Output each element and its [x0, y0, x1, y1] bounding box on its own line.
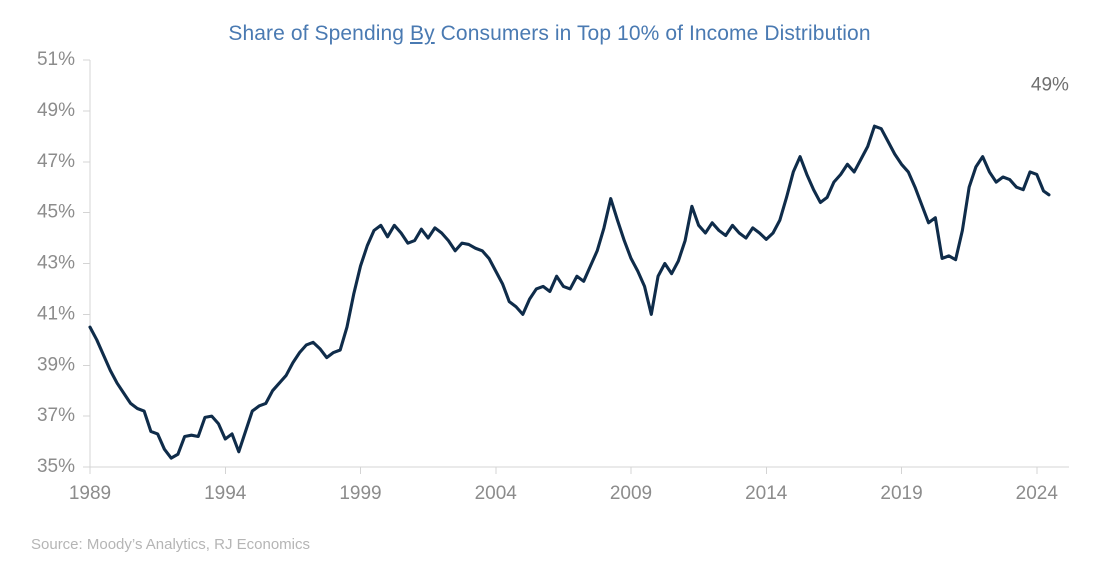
y-axis-label: 39%: [37, 354, 75, 375]
x-axis-ticks: 19891994199920042009201420192024: [69, 467, 1058, 504]
y-axis-label: 37%: [37, 405, 75, 426]
x-axis-label: 1994: [204, 483, 247, 504]
x-axis-label: 2024: [1016, 483, 1059, 504]
x-axis-label: 2019: [880, 483, 922, 504]
end-value-label: 49%: [1031, 74, 1069, 95]
y-axis-label: 45%: [37, 202, 75, 223]
data-series-line: [90, 126, 1049, 458]
y-axis-label: 43%: [37, 253, 75, 274]
y-axis-label: 49%: [37, 100, 75, 121]
y-axis-ticks: 51%49%47%45%43%41%39%37%35%: [37, 49, 90, 477]
x-axis-label: 2004: [475, 483, 518, 504]
line-chart-plot: 51%49%47%45%43%41%39%37%35% 198919941999…: [0, 0, 1099, 584]
source-note: Source: Moody’s Analytics, RJ Economics: [31, 536, 310, 553]
y-axis-label: 41%: [37, 303, 75, 324]
axis-lines: [90, 60, 1069, 467]
y-axis-label: 35%: [37, 456, 75, 477]
end-value-annotation: 49%: [1031, 74, 1069, 95]
x-axis-label: 1989: [69, 483, 111, 504]
x-axis-label: 2014: [745, 483, 788, 504]
y-axis-label: 51%: [37, 49, 75, 70]
data-series-group: [90, 126, 1049, 458]
x-axis-label: 1999: [339, 483, 381, 504]
y-axis-label: 47%: [37, 151, 75, 172]
chart-container: Share of Spending By Consumers in Top 10…: [0, 0, 1099, 584]
x-axis-label: 2009: [610, 483, 652, 504]
